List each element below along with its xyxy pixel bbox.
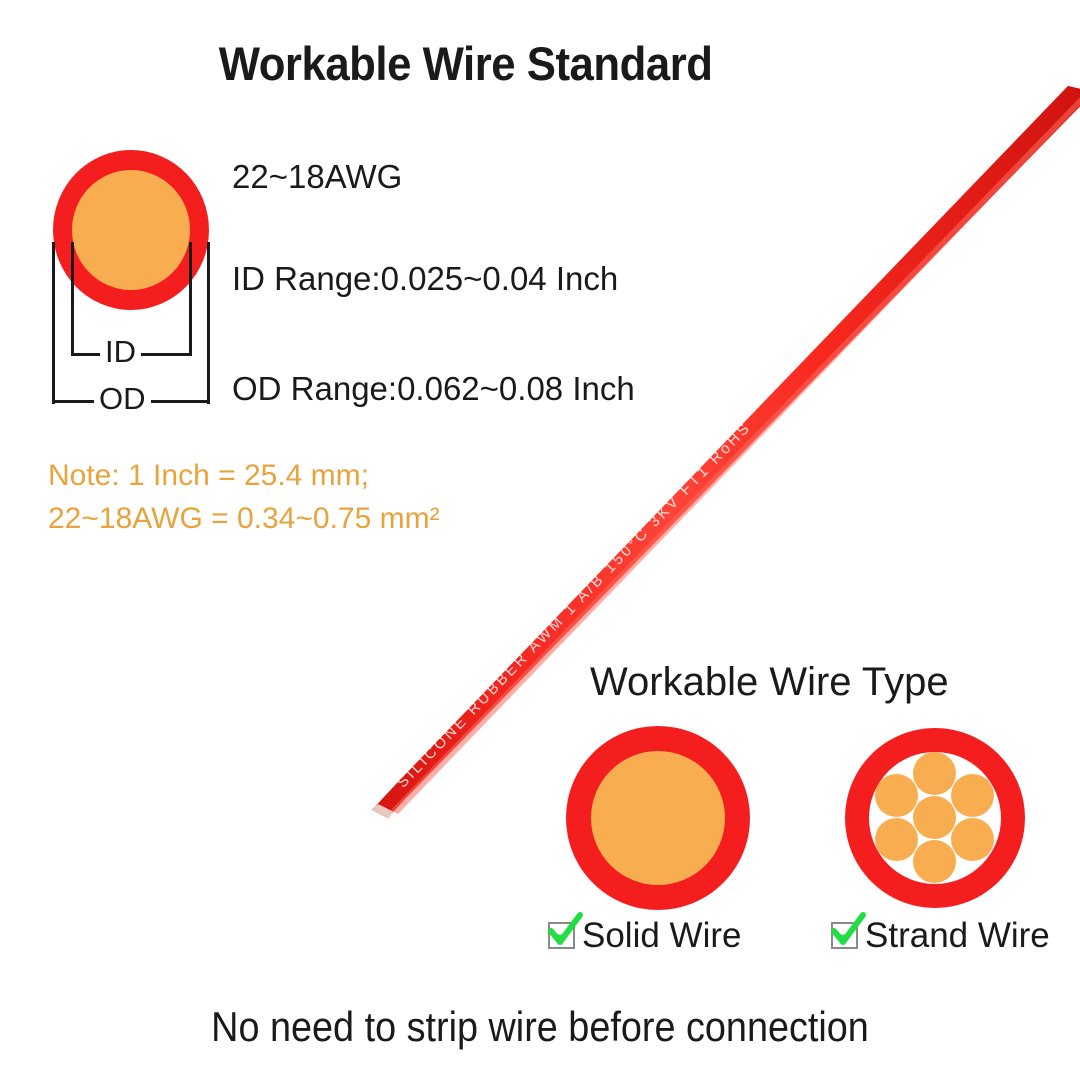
wire-type-option-solid[interactable]: Solid Wire xyxy=(566,726,750,910)
awg-range-text: 22~18AWG xyxy=(232,160,402,193)
strand-center xyxy=(913,796,956,839)
strand-wire-label: Strand Wire xyxy=(865,918,1050,953)
wire-highlight xyxy=(391,91,1080,814)
strand-upper-left xyxy=(875,774,918,817)
infographic-page: Workable Wire Standard ID OD 22~18AWG ID… xyxy=(0,0,1080,1080)
solid-wire-icon xyxy=(566,726,750,910)
od-label: OD xyxy=(94,383,151,414)
footer-caption: No need to strip wire before connection xyxy=(54,1003,1026,1051)
checkbox-solid-wire[interactable] xyxy=(548,922,575,949)
od-tick-left xyxy=(52,386,55,404)
strand-lower-right xyxy=(951,818,994,861)
od-extension-line-left xyxy=(52,242,55,402)
strand-top xyxy=(913,752,956,795)
note-line-2: 22~18AWG = 0.34~0.75 mm² xyxy=(48,498,440,541)
check-icon xyxy=(546,913,584,951)
od-range-text: OD Range:0.062~0.08 Inch xyxy=(232,372,635,405)
id-tick-left xyxy=(71,338,74,356)
id-label: ID xyxy=(100,336,141,367)
od-extension-line-right xyxy=(207,242,210,402)
id-tick-right xyxy=(189,338,192,356)
solid-wire-conductor xyxy=(591,751,725,885)
strand-wire-insulation-gap xyxy=(869,752,1001,884)
wire-cut-tip xyxy=(372,804,394,818)
wire-cross-section-diagram: ID OD xyxy=(46,150,226,420)
page-title: Workable Wire Standard xyxy=(38,36,1042,91)
solid-wire-label: Solid Wire xyxy=(582,918,741,953)
note-line-1: Note: 1 Inch = 25.4 mm; xyxy=(48,455,440,498)
checkbox-strand-wire[interactable] xyxy=(831,922,858,949)
wire-type-option-strand[interactable]: Strand Wire xyxy=(845,728,1025,908)
wire-body xyxy=(372,86,1080,818)
strand-upper-right xyxy=(951,774,994,817)
id-range-text: ID Range:0.025~0.04 Inch xyxy=(232,262,618,295)
solid-wire-check-row[interactable]: Solid Wire xyxy=(548,918,741,953)
strand-bottom xyxy=(913,840,956,883)
strand-wire-check-row[interactable]: Strand Wire xyxy=(831,918,1050,953)
od-tick-right xyxy=(207,386,210,404)
strand-lower-left xyxy=(875,818,918,861)
conversion-note: Note: 1 Inch = 25.4 mm; 22~18AWG = 0.34~… xyxy=(48,455,440,541)
conductor-core xyxy=(72,170,190,290)
wire-type-heading: Workable Wire Type xyxy=(590,662,949,702)
check-icon xyxy=(829,913,867,951)
strand-wire-icon xyxy=(845,728,1025,908)
